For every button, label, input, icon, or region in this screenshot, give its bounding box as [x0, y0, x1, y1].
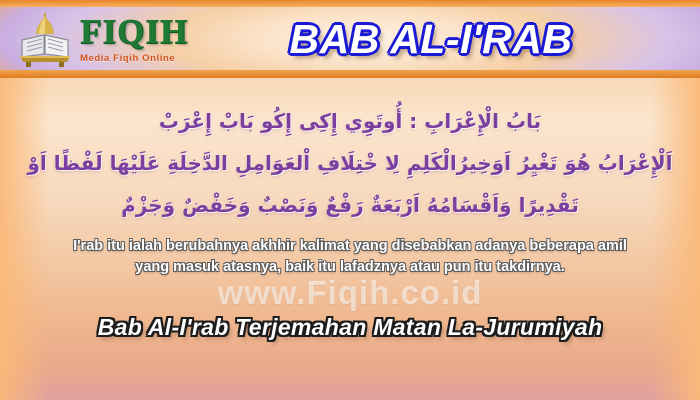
arabic-text-block: بَابُ الْإِعْرَابِ : أُوتَوِي إِكِى إِكُ… — [26, 78, 674, 226]
page-title: BAB AL-I'RAB — [202, 16, 700, 63]
caption-block: Bab Al-I'rab Terjemahan Matan La-Jurumiy… — [26, 314, 674, 341]
translation-line: I'rab itu ialah berubahnya akhhir kalima… — [26, 236, 674, 257]
logo-title: FIQIH — [80, 12, 188, 51]
header-banner: FIQIH Media Fiqih Online BAB AL-I'RAB — [0, 0, 700, 78]
logo-tagline: Media Fiqih Online — [80, 53, 175, 64]
quran-book-stand-icon — [14, 10, 76, 68]
arabic-line: بَابُ الْإِعْرَابِ : أُوتَوِي إِكِى إِكُ… — [26, 100, 674, 142]
caption-text: Bab Al-I'rab Terjemahan Matan La-Jurumiy… — [98, 314, 603, 341]
poster-canvas: FIQIH Media Fiqih Online BAB AL-I'RAB ww… — [0, 0, 700, 400]
translation-line: yang masuk atasnya, baik itu lafadznya a… — [26, 257, 674, 278]
arabic-line: اَلْإِعْرَابُ هُوَ تَغْيِرُ اَوَخِيرُالْ… — [26, 142, 674, 184]
arabic-line: تَقْدِيرًا وَاَقْسَامُهُ اَرْبَعَةٌ رَفْ… — [26, 184, 674, 226]
translation-block: I'rab itu ialah berubahnya akhhir kalima… — [26, 236, 674, 278]
site-logo[interactable]: FIQIH Media Fiqih Online — [14, 8, 202, 70]
content-area: www.Fiqih.co.id بَابُ الْإِعْرَابِ : أُو… — [0, 78, 700, 400]
site-watermark: www.Fiqih.co.id — [0, 274, 700, 312]
